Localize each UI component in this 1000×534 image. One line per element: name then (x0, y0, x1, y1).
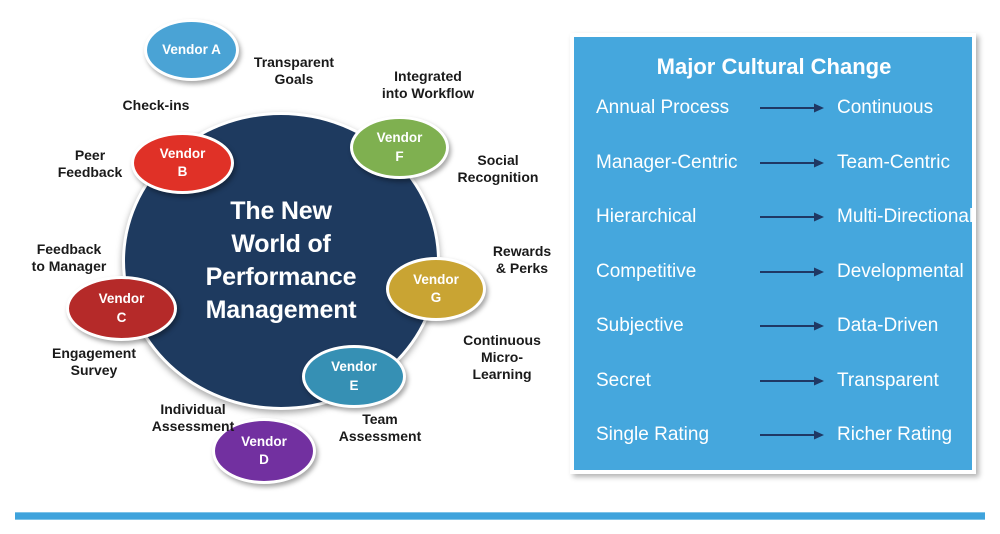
vendor-label-line: D (241, 451, 287, 469)
vendor-label: VendorC (99, 290, 145, 326)
cultural-change-row: HierarchicalMulti-Directional (596, 202, 952, 232)
vendor-label: VendorF (377, 129, 423, 165)
diagram-label-individual-assessment: Individual Assessment (134, 401, 252, 435)
core-circle-line: World of (206, 228, 357, 261)
vendor-label: VendorB (160, 145, 206, 181)
diagram-label-team-assessment: Team Assessment (324, 411, 436, 445)
arrow-right-icon (759, 428, 825, 442)
vendor-label-line: E (331, 377, 377, 395)
cultural-change-to: Transparent (825, 370, 939, 392)
vendor-label: VendorE (331, 358, 377, 394)
cultural-change-from: Single Rating (596, 424, 759, 446)
diagram-label-engagement-survey: Engagement Survey (37, 345, 151, 379)
major-cultural-change-panel: Major Cultural Change Annual ProcessCont… (570, 33, 976, 474)
diagram-label-transparent-goals: Transparent Goals (242, 54, 346, 88)
core-circle-line: The New (206, 195, 357, 228)
vendor-ellipse-c[interactable]: VendorC (66, 276, 177, 341)
vendor-ellipse-f[interactable]: VendorF (350, 116, 449, 179)
vendor-label: VendorD (241, 433, 287, 469)
cultural-change-rows: Annual ProcessContinuousManager-CentricT… (596, 93, 952, 456)
cultural-change-row: Single RatingRicher Rating (596, 420, 952, 450)
vendor-label-line: Vendor (331, 358, 377, 376)
arrow-right-icon (759, 265, 825, 279)
cultural-change-from: Annual Process (596, 97, 759, 119)
diagram-label-peer-feedback: Peer Feedback (46, 147, 134, 181)
core-circle-line: Performance (206, 261, 357, 294)
bottom-accent-bar (15, 512, 985, 520)
vendor-label-line: Vendor (99, 290, 145, 308)
cultural-change-from: Manager-Centric (596, 152, 759, 174)
core-circle-line: Management (206, 294, 357, 327)
cultural-change-row: CompetitiveDevelopmental (596, 257, 952, 287)
vendor-label: VendorG (413, 271, 459, 307)
vendor-label: Vendor A (162, 41, 221, 59)
diagram-label-check-ins: Check-ins (110, 97, 202, 114)
cultural-change-from: Hierarchical (596, 206, 759, 228)
arrow-right-icon (759, 210, 825, 224)
vendor-label-line: Vendor A (162, 41, 221, 59)
cultural-change-to: Multi-Directional (825, 206, 973, 228)
vendor-ellipse-b[interactable]: VendorB (131, 132, 234, 194)
diagram-label-social-recognition: Social Recognition (446, 152, 550, 186)
vendor-label-line: Vendor (160, 145, 206, 163)
cultural-change-to: Continuous (825, 97, 933, 119)
diagram-label-integrated-into-workflow: Integrated into Workflow (368, 68, 488, 102)
vendor-label-line: Vendor (241, 433, 287, 451)
vendor-label-line: G (413, 289, 459, 307)
arrow-right-icon (759, 374, 825, 388)
vendor-label-line: B (160, 163, 206, 181)
diagram-label-continuous-micro-learning: Continuous Micro- Learning (452, 332, 552, 383)
vendor-label-line: Vendor (377, 129, 423, 147)
panel-title: Major Cultural Change (596, 54, 952, 80)
core-circle-text: The NewWorld ofPerformanceManagement (206, 195, 357, 328)
cultural-change-row: Annual ProcessContinuous (596, 93, 952, 123)
cultural-change-from: Competitive (596, 261, 759, 283)
cultural-change-to: Developmental (825, 261, 964, 283)
cultural-change-to: Data-Driven (825, 315, 938, 337)
cultural-change-row: Manager-CentricTeam-Centric (596, 148, 952, 178)
vendor-label-line: F (377, 148, 423, 166)
vendor-ellipse-g[interactable]: VendorG (386, 257, 486, 321)
vendor-label-line: C (99, 309, 145, 327)
diagram-label-feedback-to-manager: Feedback to Manager (17, 241, 121, 275)
vendor-ellipse-e[interactable]: VendorE (302, 345, 406, 408)
performance-management-diagram: The NewWorld ofPerformanceManagement Ven… (0, 0, 560, 500)
vendor-label-line: Vendor (413, 271, 459, 289)
arrow-right-icon (759, 156, 825, 170)
cultural-change-from: Secret (596, 370, 759, 392)
cultural-change-to: Team-Centric (825, 152, 950, 174)
diagram-label-rewards-and-perks: Rewards & Perks (480, 243, 564, 277)
cultural-change-to: Richer Rating (825, 424, 952, 446)
arrow-right-icon (759, 319, 825, 333)
cultural-change-from: Subjective (596, 315, 759, 337)
cultural-change-row: SubjectiveData-Driven (596, 311, 952, 341)
cultural-change-row: SecretTransparent (596, 366, 952, 396)
arrow-right-icon (759, 101, 825, 115)
vendor-ellipse-a[interactable]: Vendor A (144, 19, 239, 81)
